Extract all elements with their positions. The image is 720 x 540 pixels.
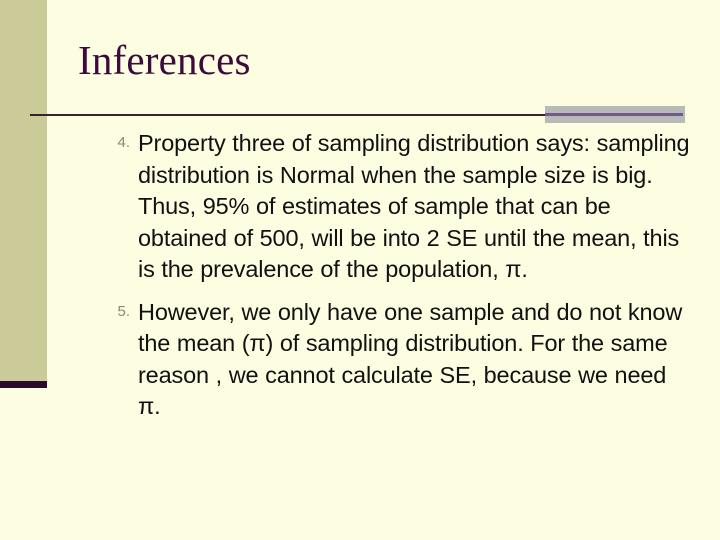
slide: Inferences 4. Property three of sampling… [0, 0, 720, 540]
list-item-marker: 4. [106, 135, 130, 150]
page-title: Inferences [78, 36, 251, 84]
body-content: 4. Property three of sampling distributi… [106, 128, 692, 434]
title-decoration-line [545, 113, 683, 116]
list-item-text: However, we only have one sample and do … [138, 299, 682, 420]
list-item-marker: 5. [106, 304, 130, 319]
left-accent-band [0, 0, 47, 381]
left-accent-bar [0, 381, 47, 388]
list-item: 5. However, we only have one sample and … [106, 297, 692, 423]
list-item: 4. Property three of sampling distributi… [106, 128, 692, 286]
list-item-text: Property three of sampling distribution … [138, 130, 689, 282]
